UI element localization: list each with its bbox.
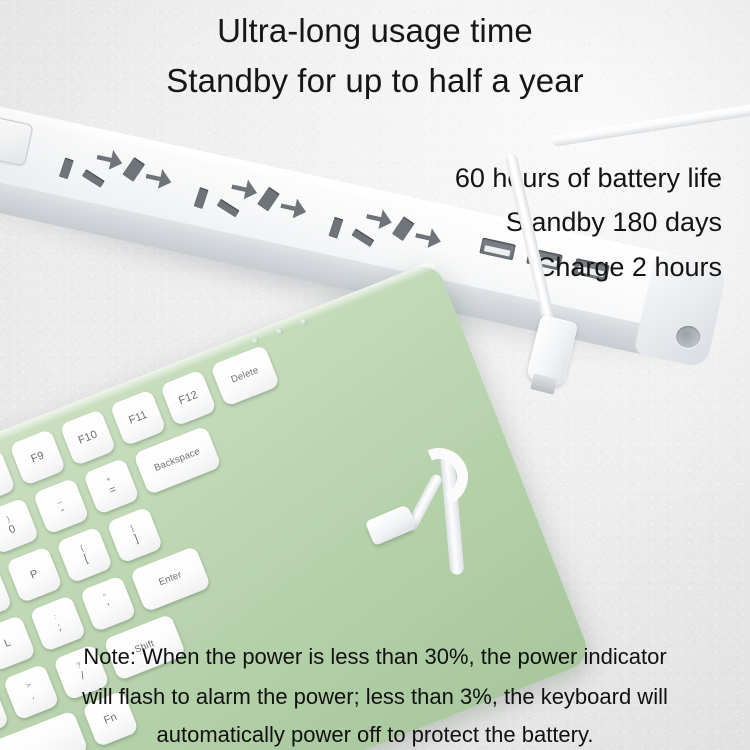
key-sub-legend: ) <box>4 515 13 526</box>
spec-charge-time: Charge 2 hours <box>536 252 722 283</box>
key-legend: += <box>104 475 118 497</box>
key-legend: Backspace <box>153 447 202 475</box>
key-legend: {[ <box>79 544 90 565</box>
key-legend: )0 <box>4 515 18 537</box>
key-legend: Delete <box>230 365 261 385</box>
headline-secondary: Standby for up to half a year <box>0 62 750 100</box>
key-legend: F9 <box>29 449 46 465</box>
key-sub-legend: " <box>103 593 109 602</box>
headline-primary: Ultra-long usage time <box>0 12 750 50</box>
spec-battery-life: 60 hours of battery life <box>455 163 722 194</box>
key-legend: F12 <box>177 389 200 408</box>
key-legend: "' <box>103 593 114 614</box>
key-legend: P <box>29 568 41 582</box>
note-line-2: will flash to alarm the power; less than… <box>0 684 750 710</box>
key-legend: }] <box>129 525 140 546</box>
key-legend: _- <box>55 495 67 516</box>
key-sub-legend: : <box>53 613 59 623</box>
key-sub-legend: { <box>79 544 85 554</box>
key-sub-legend: + <box>104 475 113 486</box>
key-sub-legend: } <box>129 525 135 535</box>
key-sub-legend: _ <box>55 495 63 505</box>
key-legend: F10 <box>77 428 100 447</box>
key-legend: :; <box>53 613 64 634</box>
spec-standby-days: Standby 180 days <box>506 207 722 238</box>
key-legend: F11 <box>127 409 149 427</box>
product-feature-image: F4F5F6F7F8F9F10F11F12Delete^6&7*8(9)0_-+… <box>0 0 750 750</box>
note-line-1: Note: When the power is less than 30%, t… <box>0 644 750 670</box>
key-legend: Enter <box>158 570 184 589</box>
note-line-3: automatically power off to protect the b… <box>0 722 750 748</box>
